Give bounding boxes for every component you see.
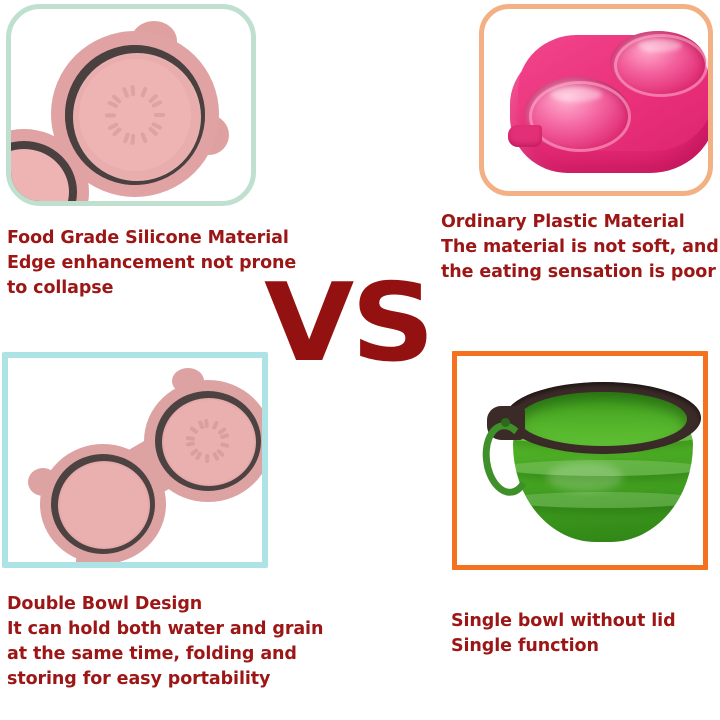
sunburst-ray [130,134,135,145]
green-collapsible-bowl-illustration [487,378,703,548]
plastic-base-tab [508,125,542,147]
sunburst-ray [212,420,219,430]
caption-top-right: Ordinary Plastic Material The material i… [441,210,720,285]
sunburst-ray [220,433,230,439]
highlight [638,39,682,52]
product-image-frame-top-right [479,4,713,196]
product-image-frame-bottom-right [452,351,708,570]
product-image-frame-bottom-left [2,352,268,568]
sunburst-ray [154,113,165,117]
sunburst-ray [189,426,198,434]
product-image-frame-top-left [6,4,256,206]
highlight [550,87,602,102]
bowl-one-inner [58,461,150,549]
sunburst-ray [206,454,210,463]
sunburst-ray [186,442,195,447]
caption-bottom-left: Double Bowl Design It can hold both wate… [7,592,367,692]
bowl-fold-rib [513,492,693,508]
sunburst-ray [122,87,130,99]
sunburst-ray [220,442,230,447]
sunburst-ray [105,113,116,117]
bowl-interior [519,392,687,446]
sunburst-ray [123,132,131,144]
comparison-infographic: Food Grade Silicone Material Edge enhanc… [0,0,720,720]
lid-sunburst-pattern [103,83,167,147]
carabiner-pin [501,418,510,427]
caption-bottom-right: Single bowl without lid Single function [451,609,719,659]
sunburst-ray [186,436,195,441]
sunburst-ray [140,132,148,144]
double-bowl-illustration [20,366,268,566]
lid-sunburst-pattern [184,418,232,464]
plastic-double-bowl-illustration [510,29,713,179]
sunburst-ray [130,85,135,96]
vs-divider-label: VS [264,272,458,380]
sunburst-ray [140,86,148,98]
highlight [547,462,623,492]
silicone-lid-bowl-illustration [11,9,251,201]
sunburst-ray [204,419,208,428]
